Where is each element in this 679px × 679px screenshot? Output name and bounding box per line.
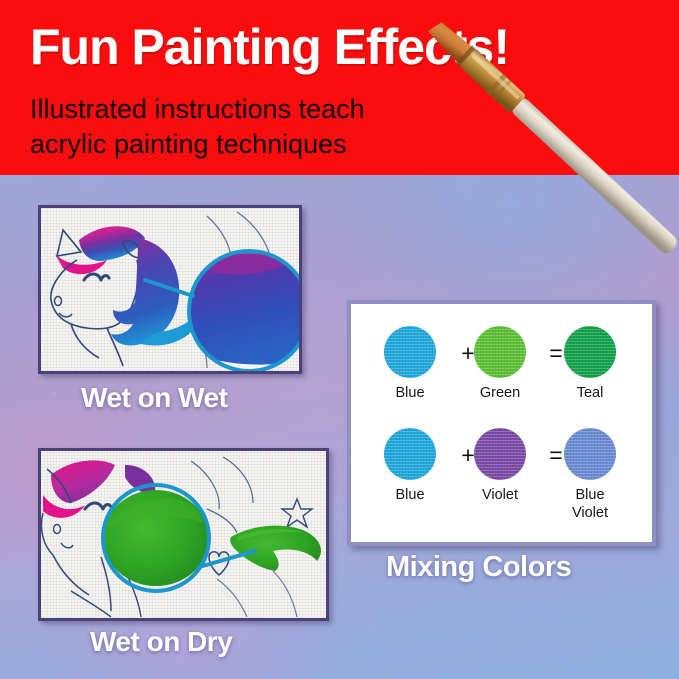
swatch-green [474, 326, 526, 378]
star-outline [282, 499, 312, 527]
panel-wet-on-dry [38, 448, 329, 621]
swatch-label-violet: Violet [457, 487, 543, 504]
mixing-row-1-result: Teal [547, 326, 633, 402]
swatch-label-blue-violet-line2: Violet [547, 505, 633, 522]
page-title: Fun Painting Effects! [30, 22, 630, 73]
swatch-label-green: Green [457, 385, 543, 402]
caption-wet-on-wet: Wet on Wet [81, 382, 227, 414]
swatch-label-blue-1: Blue [367, 385, 453, 402]
panel-wet-on-wet [38, 205, 302, 374]
mixing-row-1-color-a: Blue [367, 326, 453, 402]
swatch-blue-2 [384, 428, 436, 480]
mixing-row-2-result: Blue Violet [547, 428, 633, 521]
mixing-row-1-color-b: Green [457, 326, 543, 402]
mixing-row-2: Blue + Violet = Blue Violet [351, 428, 652, 528]
unicorn-wet-on-dry-illustration [41, 451, 326, 618]
swatch-violet [474, 428, 526, 480]
swatch-label-teal: Teal [547, 385, 633, 402]
wet-on-wet-artwork [41, 208, 299, 371]
swatch-label-blue-violet-line1: Blue [547, 487, 633, 504]
panel-mixing-colors: Blue + Green = Teal Blue + Violet [347, 300, 656, 546]
caption-mixing-colors: Mixing Colors [386, 551, 571, 584]
swatch-blue-1 [384, 326, 436, 378]
wet-on-dry-artwork [41, 451, 326, 618]
subtitle-line-2: acrylic painting techniques [30, 127, 500, 162]
page-subtitle: Illustrated instructions teach acrylic p… [30, 92, 500, 161]
product-infographic: Fun Painting Effects! Illustrated instru… [0, 0, 679, 679]
mixing-row-2-color-b: Violet [457, 428, 543, 504]
swatch-teal [564, 326, 616, 378]
unicorn-wet-on-wet-illustration [41, 208, 299, 371]
mixing-row-2-color-a: Blue [367, 428, 453, 504]
mixing-row-1: Blue + Green = Teal [351, 326, 652, 426]
swatch-blue-violet [564, 428, 616, 480]
subtitle-line-1: Illustrated instructions teach [30, 92, 500, 127]
caption-wet-on-dry: Wet on Dry [90, 626, 232, 658]
swatch-label-blue-2: Blue [367, 487, 453, 504]
header-banner: Fun Painting Effects! Illustrated instru… [0, 0, 679, 175]
